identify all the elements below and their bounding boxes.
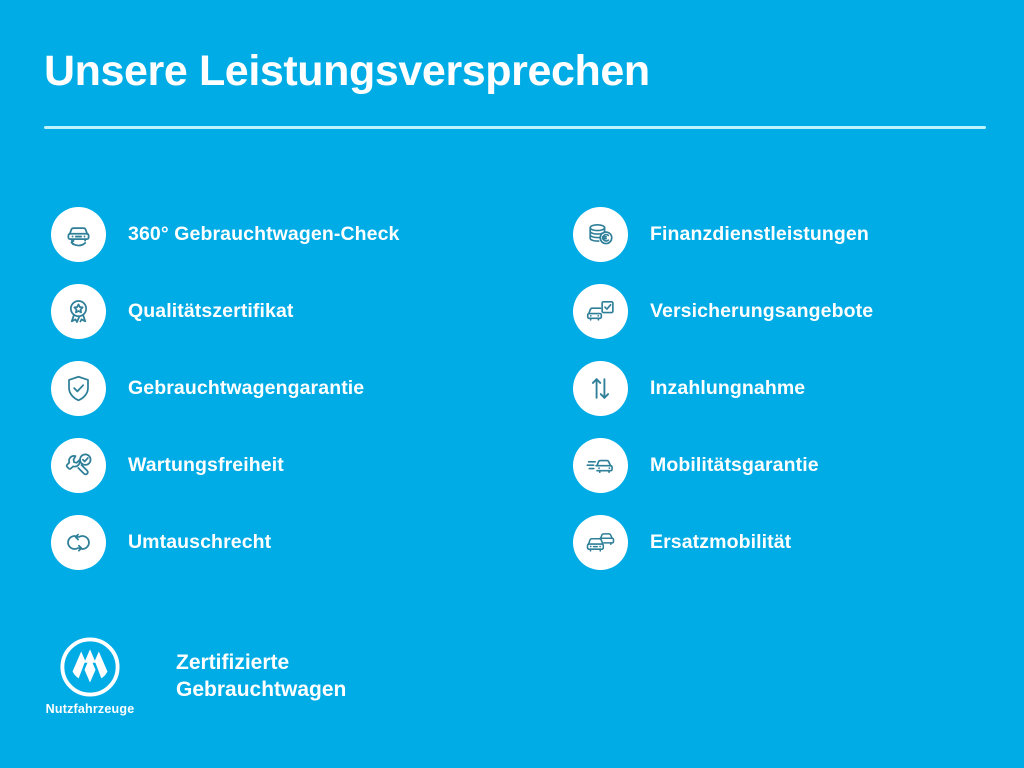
benefit-label: Gebrauchtwagengarantie (128, 377, 364, 400)
two-cars-icon (573, 515, 628, 570)
brand-claim: Zertifizierte Gebrauchtwagen (176, 650, 346, 704)
brand-sub-label: Nutzfahrzeuge (46, 702, 135, 716)
benefit-label: Qualitätszertifikat (128, 300, 294, 323)
benefit-label: Ersatzmobilität (650, 531, 791, 554)
benefit-label: Umtauschrecht (128, 531, 271, 554)
benefit-item-inzahlungnahme[interactable]: Inzahlungnahme (573, 350, 1024, 427)
header: Unsere Leistungsversprechen (44, 48, 986, 129)
car-motion-icon (573, 438, 628, 493)
benefit-item-umtauschrecht[interactable]: Umtauschrecht (51, 504, 512, 581)
award-rosette-icon (51, 284, 106, 339)
vw-logo-icon (59, 636, 121, 698)
benefit-item-wartungsfreiheit[interactable]: Wartungsfreiheit (51, 427, 512, 504)
up-down-arrows-icon (573, 361, 628, 416)
benefits-grid: 360° Gebrauchtwagen-Check Qualitätszerti… (0, 196, 1024, 581)
brand-footer: Nutzfahrzeuge Zertifizierte Gebrauchtwag… (44, 636, 346, 716)
benefits-left-column: 360° Gebrauchtwagen-Check Qualitätszerti… (0, 196, 512, 581)
benefit-item-qualitaetszertifikat[interactable]: Qualitätszertifikat (51, 273, 512, 350)
benefit-item-ersatzmobilitaet[interactable]: Ersatzmobilität (573, 504, 1024, 581)
title-divider (44, 126, 986, 129)
page-title: Unsere Leistungsversprechen (44, 48, 986, 94)
benefit-label: 360° Gebrauchtwagen-Check (128, 223, 399, 246)
benefit-item-versicherungsangebote[interactable]: Versicherungsangebote (573, 273, 1024, 350)
wrench-check-icon (51, 438, 106, 493)
brand-claim-line2: Gebrauchtwagen (176, 677, 346, 704)
exchange-arrows-icon (51, 515, 106, 570)
benefit-label: Versicherungsangebote (650, 300, 873, 323)
benefit-label: Finanzdienstleistungen (650, 223, 869, 246)
benefit-label: Inzahlungnahme (650, 377, 805, 400)
slide-root: Unsere Leistungsversprechen (0, 0, 1024, 768)
benefit-item-360-check[interactable]: 360° Gebrauchtwagen-Check (51, 196, 512, 273)
brand-claim-line1: Zertifizierte (176, 650, 346, 677)
benefit-label: Wartungsfreiheit (128, 454, 284, 477)
coins-euro-icon (573, 207, 628, 262)
benefit-item-mobilitaetsgarantie[interactable]: Mobilitätsgarantie (573, 427, 1024, 504)
brand-mark: Nutzfahrzeuge (44, 636, 136, 716)
shield-check-icon (51, 361, 106, 416)
benefits-right-column: Finanzdienstleistungen Versicherungsange… (512, 196, 1024, 581)
benefit-item-finanzdienstleistungen[interactable]: Finanzdienstleistungen (573, 196, 1024, 273)
benefit-item-gebrauchtwagengarantie[interactable]: Gebrauchtwagengarantie (51, 350, 512, 427)
car-360-check-icon (51, 207, 106, 262)
car-document-check-icon (573, 284, 628, 339)
benefit-label: Mobilitätsgarantie (650, 454, 819, 477)
